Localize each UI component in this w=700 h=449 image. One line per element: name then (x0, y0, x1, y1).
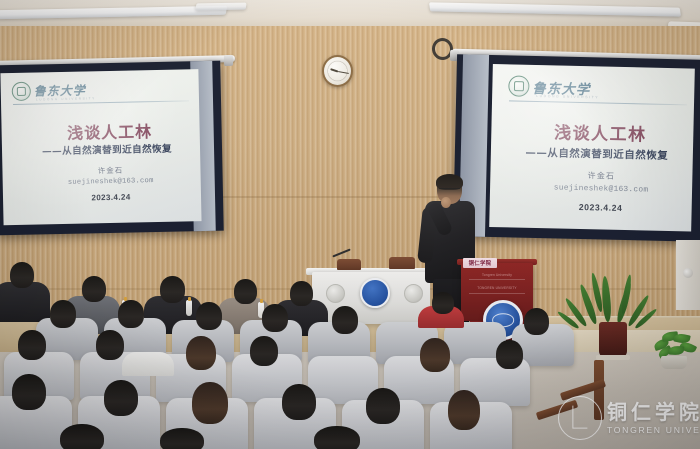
audience-head (366, 388, 400, 424)
university-emblem-icon (360, 278, 390, 308)
wall-clock-icon (322, 55, 353, 87)
slide-left: 鲁东大学 LUDONG UNIVERSITY 浅谈人工林 ——从自然演替到近自然… (0, 69, 201, 225)
slide-email: suejineshek@163.com (500, 183, 695, 196)
projection-screen-left: 鲁东大学 LUDONG UNIVERSITY 浅谈人工林 ——从自然演替到近自然… (0, 61, 224, 236)
table-ornament-icon (326, 284, 345, 303)
plant-leaf (669, 345, 685, 355)
audience-head (196, 302, 222, 330)
audience-head (96, 330, 124, 360)
audience-head (234, 279, 257, 304)
podium-rule (469, 293, 525, 294)
slide-date: 2023.4.24 (500, 200, 695, 215)
podium-text-line-2: TONGREN UNIVERSITY (469, 286, 525, 290)
university-name-en: LUDONG UNIVERSITY (536, 94, 599, 99)
audience-head (118, 300, 144, 328)
ceiling-light-icon (195, 3, 246, 11)
audience-head (314, 426, 360, 449)
audience-head (104, 380, 138, 416)
presenter-hand (441, 197, 451, 208)
audience-head (60, 424, 104, 449)
audience-head (12, 374, 46, 410)
audience-head (290, 281, 313, 306)
audience-head (18, 330, 46, 360)
slide-title: 浅谈人工林 (499, 117, 695, 147)
audience-head (420, 338, 450, 372)
chair-back (389, 257, 415, 269)
audience-head (82, 276, 106, 302)
audience-head (50, 300, 76, 328)
slide-date: 2023.4.24 (12, 191, 202, 204)
plant-pot (599, 322, 627, 358)
audience-head (186, 336, 216, 370)
university-seal-icon (508, 75, 529, 96)
slide-divider (509, 100, 687, 105)
audience-head (160, 276, 185, 303)
water-bottle-icon (186, 300, 192, 316)
university-seal-icon (12, 82, 31, 101)
audience-head (192, 382, 228, 424)
chair-back (337, 259, 361, 270)
slide-subtitle: ——从自然演替到近自然恢复 (8, 140, 202, 158)
podium-rule (469, 279, 525, 280)
audience-head (160, 428, 204, 449)
podium-text-line-1: Tongren University (469, 273, 525, 277)
audience-head (10, 262, 34, 288)
stage-table (312, 272, 430, 324)
audience-head (496, 340, 523, 369)
screen-roller-end (224, 55, 233, 66)
audience-head (262, 304, 288, 332)
slide-right: 鲁东大学 LUDONG UNIVERSITY 浅谈人工林 ——从自然演替到近自然… (489, 64, 695, 232)
audience-person (0, 282, 50, 322)
glasses-icon (439, 188, 460, 193)
university-name-en: LUDONG UNIVERSITY (36, 96, 96, 101)
lecture-hall-photo: 鲁东大学 LUDONG UNIVERSITY 浅谈人工林 ——从自然演替到近自然… (0, 0, 700, 449)
slide-email: suejineshek@163.com (12, 176, 202, 188)
door-knob-icon (683, 268, 693, 278)
podium-plate: 铜仁学院 (463, 258, 497, 268)
slide-subtitle: ——从自然演替到近自然恢复 (496, 143, 695, 163)
audience-head (432, 292, 454, 314)
audience-head (282, 384, 316, 420)
audience-person (122, 352, 174, 376)
slide-author: 许金石 (500, 168, 695, 184)
audience-head (332, 306, 358, 334)
projection-screen-right: 鲁东大学 LUDONG UNIVERSITY 浅谈人工林 ——从自然演替到近自然… (453, 54, 700, 242)
audience-head (524, 308, 549, 335)
audience-head (448, 390, 480, 430)
audience-head (250, 336, 278, 366)
small-plant-pot (661, 356, 687, 369)
